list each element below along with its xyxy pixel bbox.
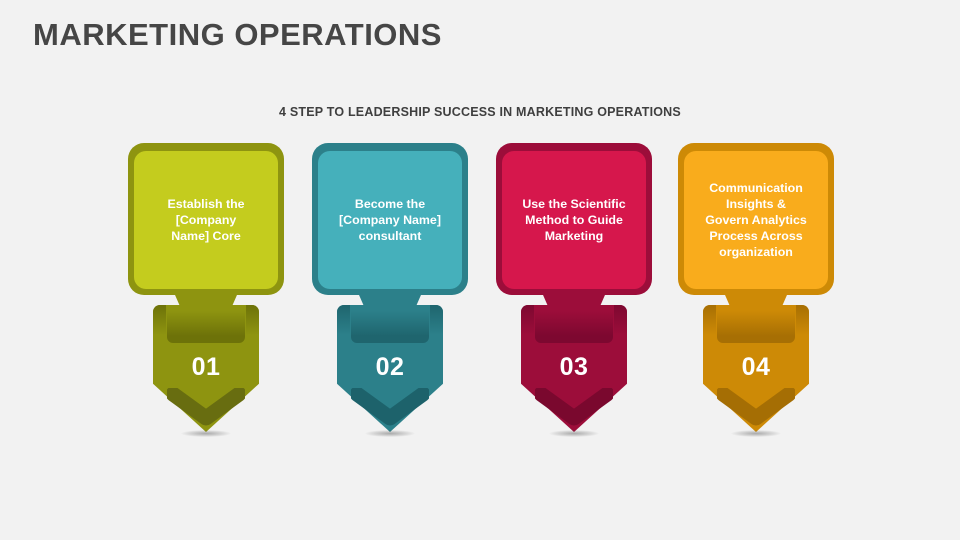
slide-subtitle: 4 STEP TO LEADERSHIP SUCCESS IN MARKETIN… [0,105,960,119]
step-number-label: 04 [678,353,834,382]
ribbon-fold-band [351,311,429,343]
ribbon-shadow-right [614,305,627,335]
ribbon-shadow-right [246,305,259,335]
page-title: MARKETING OPERATIONS [33,17,442,53]
step-card-panel[interactable]: Communication Insights & Govern Analytic… [684,151,828,289]
step-card-panel[interactable]: Establish the [Company Name] Core [134,151,278,289]
step-card-02[interactable]: 02Become the [Company Name] consultant [312,140,468,440]
ribbon-shadow-left [337,305,350,335]
ribbon-shadow-right [430,305,443,335]
ribbon-tip-shadow [181,430,231,437]
slide-canvas: MARKETING OPERATIONS 4 STEP TO LEADERSHI… [0,0,960,540]
ribbon-shadow-left [153,305,166,335]
step-number-label: 03 [496,353,652,382]
step-card-panel[interactable]: Use the Scientific Method to Guide Marke… [502,151,646,289]
step-card-text: Communication Insights & Govern Analytic… [705,180,806,260]
ribbon-shadow-left [703,305,716,335]
step-card-panel[interactable]: Become the [Company Name] consultant [318,151,462,289]
ribbon-fold-band [167,311,245,343]
chevron-down-icon [717,388,795,430]
step-card-frame: Establish the [Company Name] Core [128,143,284,295]
chevron-down-icon [535,388,613,430]
step-card-text: Become the [Company Name] consultant [339,196,441,244]
step-card-text: Establish the [Company Name] Core [167,196,244,244]
step-number-label: 02 [312,353,468,382]
step-list: 01Establish the [Company Name] Core02Bec… [0,140,960,440]
step-card-frame: Use the Scientific Method to Guide Marke… [496,143,652,295]
step-card-frame: Communication Insights & Govern Analytic… [678,143,834,295]
step-card-01[interactable]: 01Establish the [Company Name] Core [128,140,284,440]
ribbon-tip-shadow [549,430,599,437]
step-card-03[interactable]: 03Use the Scientific Method to Guide Mar… [496,140,652,440]
chevron-down-icon [351,388,429,430]
ribbon-tip-shadow [731,430,781,437]
ribbon-tip-shadow [365,430,415,437]
chevron-down-icon [167,388,245,430]
step-card-04[interactable]: 04Communication Insights & Govern Analyt… [678,140,834,440]
ribbon-shadow-left [521,305,534,335]
ribbon-fold-band [717,311,795,343]
ribbon-shadow-right [796,305,809,335]
step-card-text: Use the Scientific Method to Guide Marke… [522,196,625,244]
ribbon-fold-band [535,311,613,343]
step-number-label: 01 [128,353,284,382]
step-card-frame: Become the [Company Name] consultant [312,143,468,295]
